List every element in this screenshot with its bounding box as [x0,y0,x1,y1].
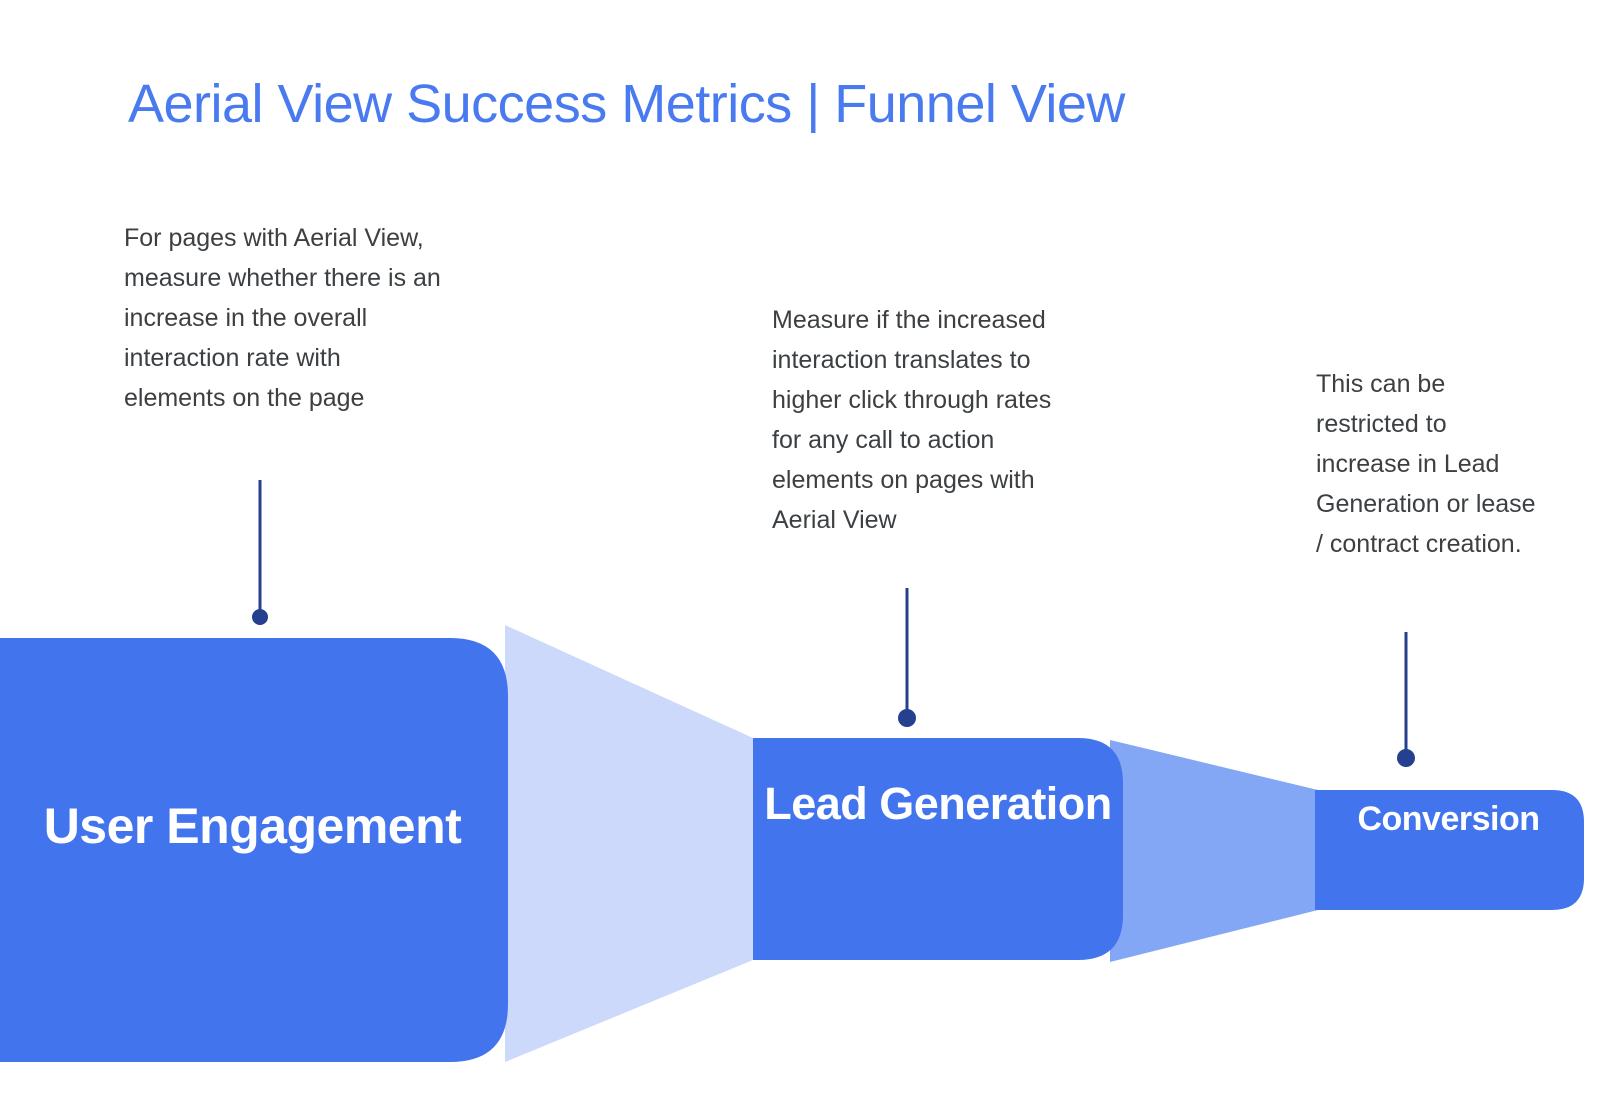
annotation-note-conversion: This can be restricted to increase in Le… [1316,364,1548,564]
funnel-stage-conversion[interactable] [1315,790,1584,910]
slide-canvas: Aerial View Success Metrics | Funnel Vie… [0,0,1602,1096]
annotation-note-lead-generation: Measure if the increased interaction tra… [772,300,1072,540]
funnel-stage-user-engagement[interactable] [0,638,508,1062]
funnel-connector-1 [505,625,753,1062]
funnel-stage-lead-generation[interactable] [753,738,1123,960]
funnel-connector-2 [1110,740,1318,962]
annotation-note-user-engagement: For pages with Aerial View, measure whet… [124,218,444,418]
